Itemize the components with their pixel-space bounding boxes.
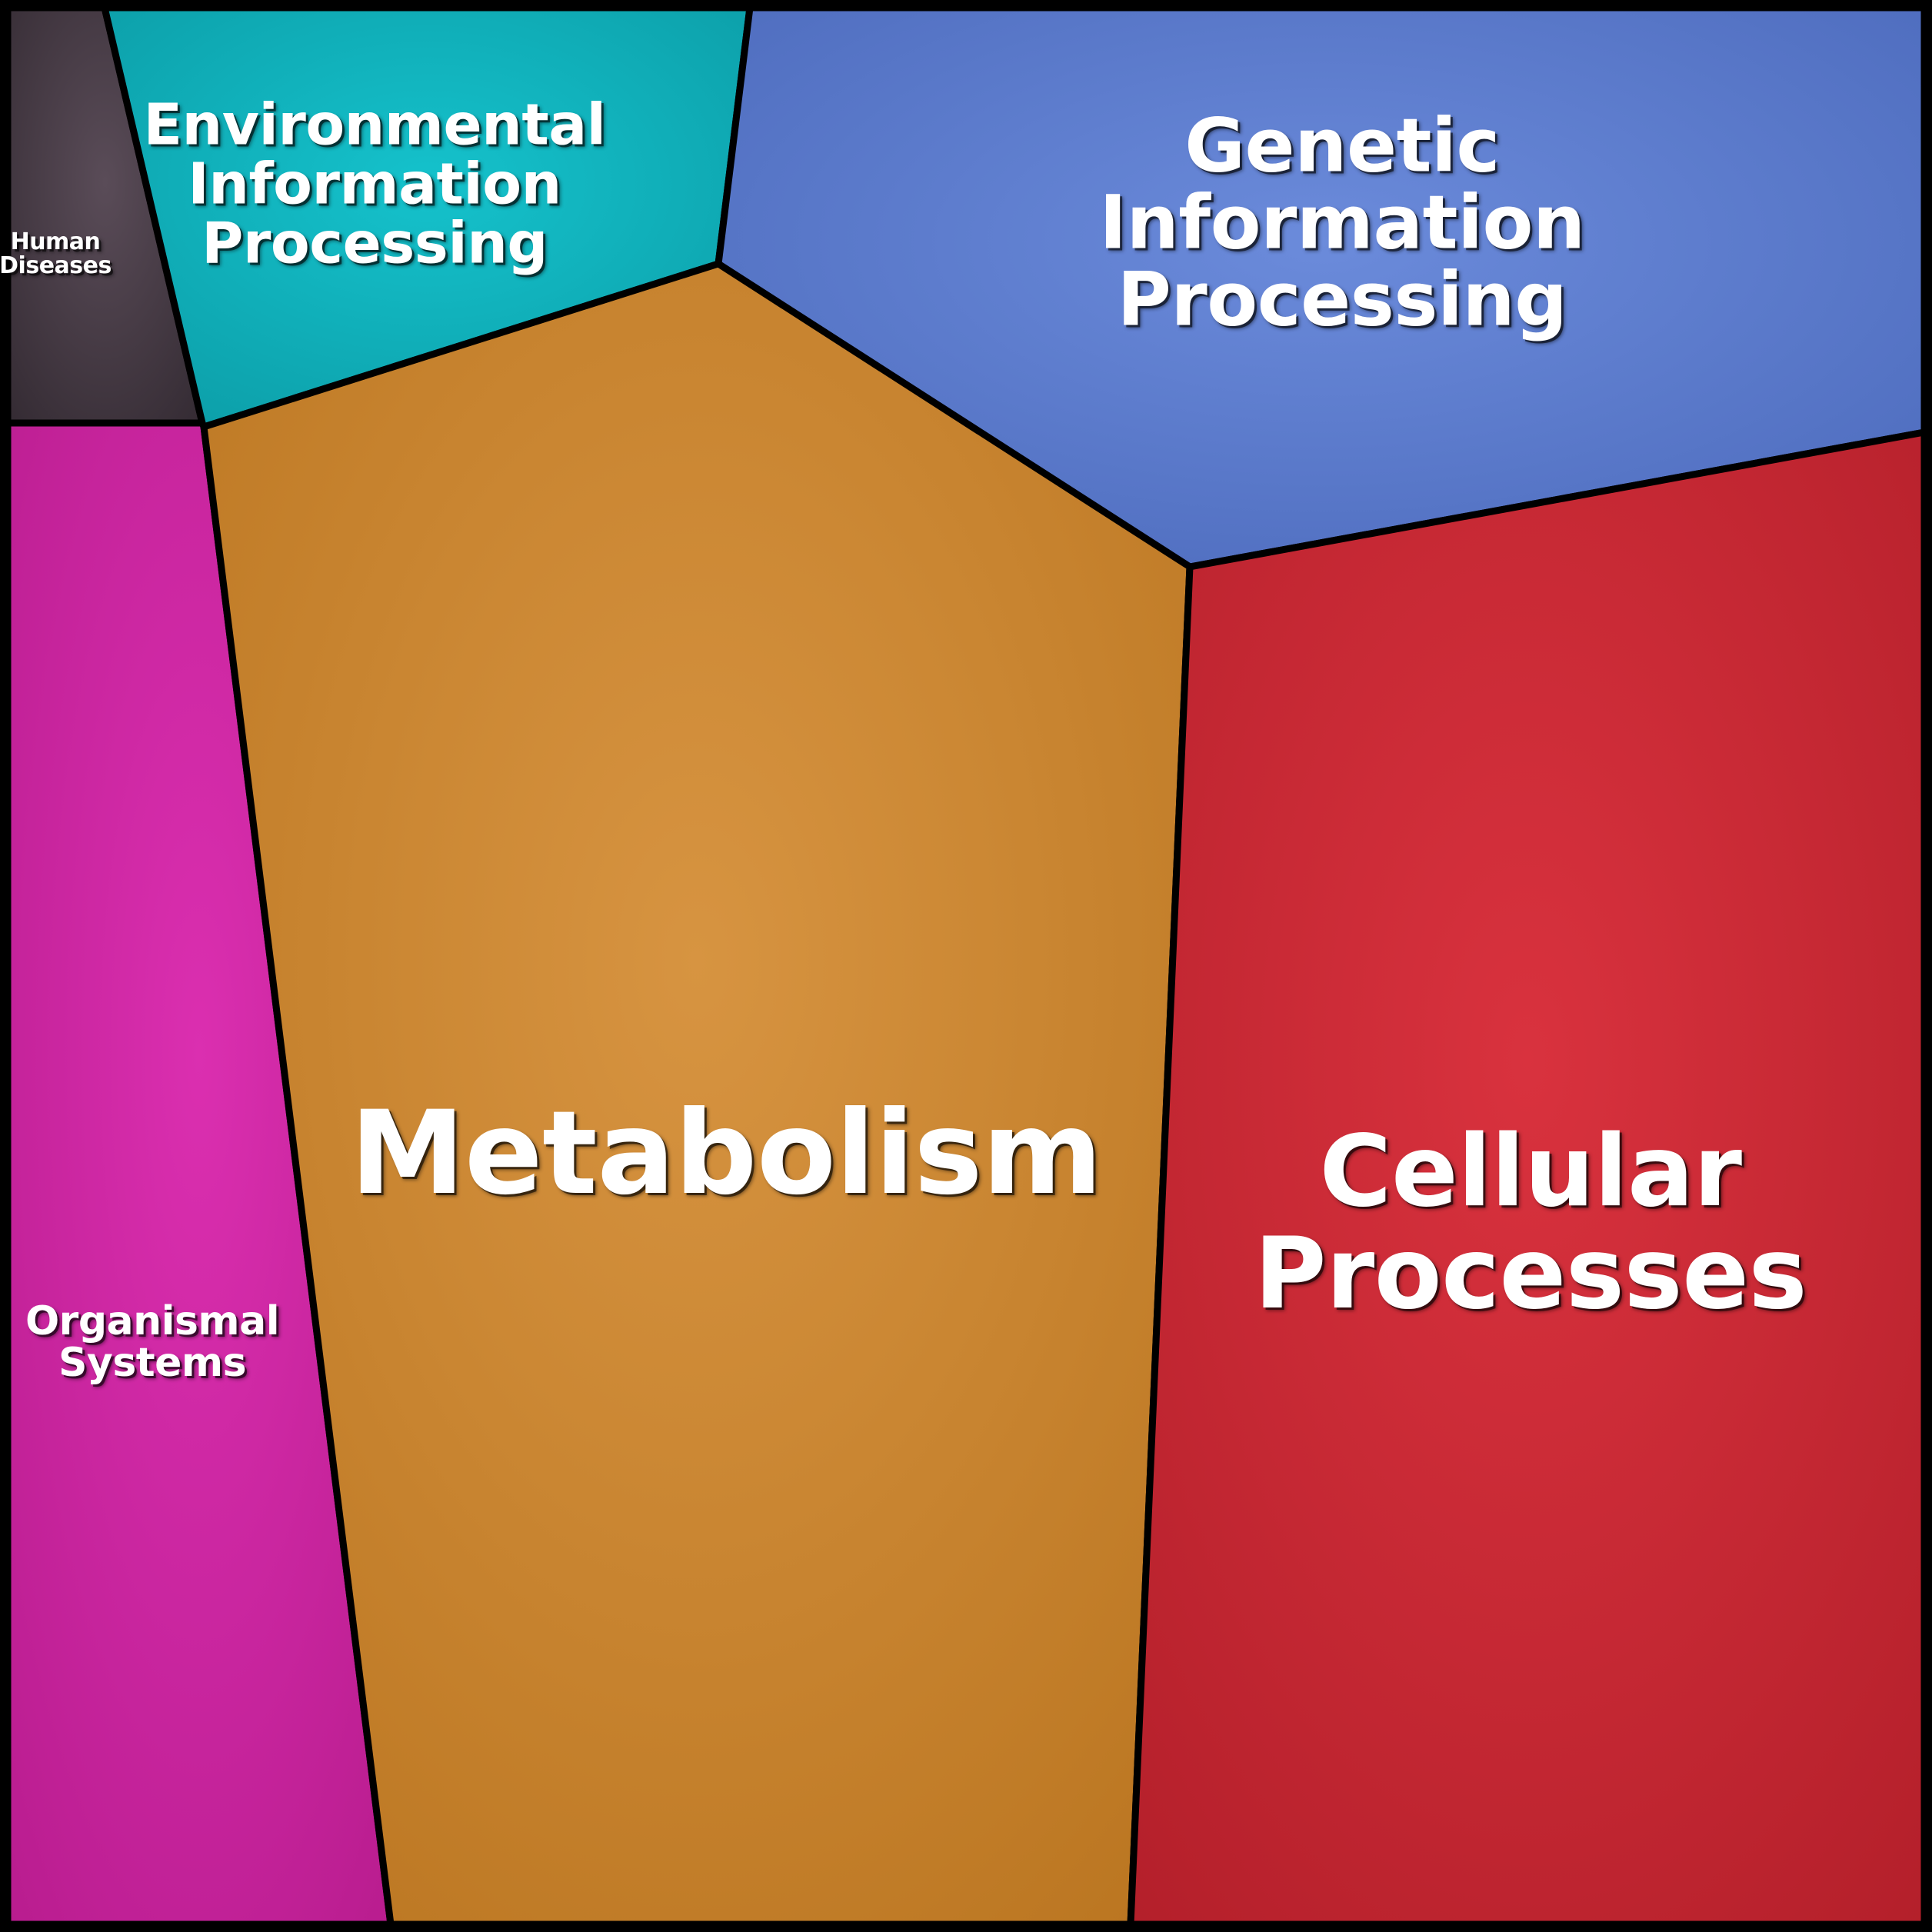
treemap-cell-cellular-processes[interactable] [1131, 432, 1924, 1924]
treemap-cells [8, 8, 1924, 1924]
voronoi-treemap-svg [0, 0, 1932, 1932]
treemap-canvas: Human DiseasesEnvironmental Information … [0, 0, 1932, 1932]
